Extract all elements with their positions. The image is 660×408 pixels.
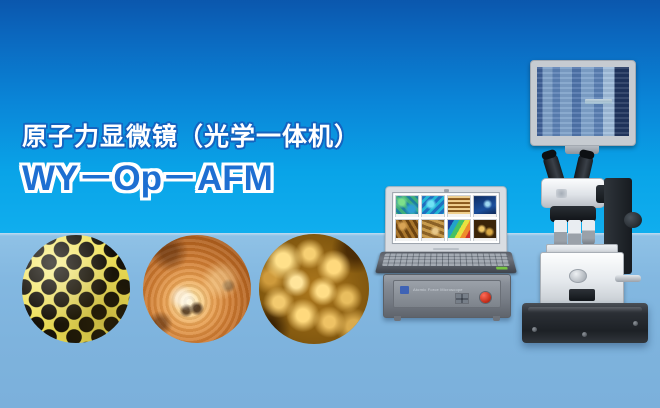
controller-front-panel: Atomic Force Microscope — [393, 280, 501, 308]
sample-image-nanoparticle — [259, 234, 369, 344]
banner-image: 原子力显微镜（光学一体机） WY－Op－AFM — [0, 0, 660, 408]
sample-texture — [22, 235, 130, 343]
head-brand-logo-icon — [556, 189, 567, 198]
scan-thumbnail — [473, 195, 497, 217]
microscope-head — [541, 178, 605, 208]
laptop-lid — [385, 186, 507, 256]
sample-image-nanopore-array — [22, 235, 130, 343]
scan-thumbnail — [473, 219, 498, 241]
sample-image-topography — [143, 235, 251, 343]
page-title: 原子力显微镜（光学一体机） — [22, 122, 360, 153]
laptop-screen — [392, 192, 500, 244]
sample-texture — [259, 234, 369, 344]
microscope-monitor — [530, 60, 636, 146]
bolt-icon — [582, 332, 587, 337]
controller-label: Atomic Force Microscope — [413, 287, 463, 292]
afm-controller-unit: Atomic Force Microscope — [383, 274, 511, 318]
bolt-icon — [633, 321, 638, 326]
scan-thumbnail — [447, 219, 471, 241]
focus-knob[interactable] — [624, 212, 642, 228]
scan-thumbnail — [421, 195, 445, 217]
headline-block: 原子力显微镜（光学一体机） WY－Op－AFM — [22, 122, 360, 199]
objective-lens — [582, 220, 595, 246]
scanner-rod — [615, 275, 641, 282]
model-number: WY－Op－AFM — [22, 159, 360, 199]
laptop-base — [375, 252, 517, 273]
laptop-keyboard[interactable] — [382, 254, 510, 266]
brand-logo-icon — [400, 286, 409, 294]
granite-base — [522, 303, 648, 343]
scanner-adjust-dial[interactable] — [569, 269, 587, 283]
indicator-panel[interactable] — [455, 293, 469, 304]
bolt-icon — [532, 327, 537, 332]
scan-thumbnail — [395, 195, 419, 217]
controller-foot — [394, 316, 401, 321]
scan-thumbnail — [421, 219, 445, 241]
scan-thumbnail — [395, 219, 420, 241]
controller-foot — [493, 316, 500, 321]
scan-thumbnail — [447, 195, 471, 217]
optical-afm-microscope — [504, 60, 660, 350]
sample-texture — [143, 235, 251, 343]
sample-stage — [569, 289, 595, 301]
power-knob[interactable] — [480, 292, 491, 303]
afm-scanner-head — [540, 252, 624, 308]
monitor-screen — [537, 67, 629, 136]
